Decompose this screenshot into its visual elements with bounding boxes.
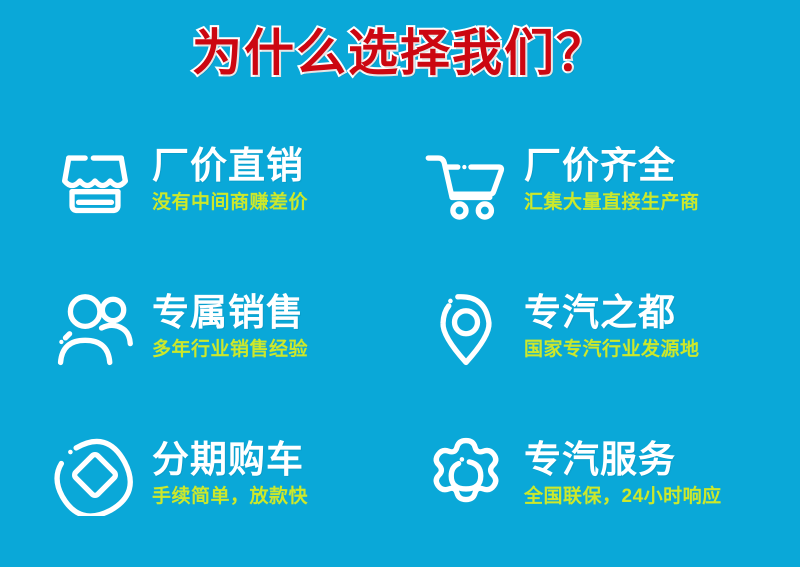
storefront-icon <box>52 138 138 224</box>
feature-subtitle: 手续简单，放款快 <box>152 484 308 510</box>
feature-title: 专属销售 <box>152 291 308 334</box>
feature-text: 专汽服务 全国联保，24小时响应 <box>524 438 722 512</box>
feature-text: 分期购车 手续简单，放款快 <box>152 438 308 512</box>
gear-icon <box>422 432 510 518</box>
map-pin-icon <box>422 285 510 371</box>
feature-subtitle: 多年行业销售经验 <box>152 337 308 363</box>
feature-title: 厂价齐全 <box>524 144 700 187</box>
feature-item-installment-purchase[interactable]: 分期购车 手续简单，放款快 <box>52 401 422 548</box>
feature-subtitle: 全国联保，24小时响应 <box>524 484 722 510</box>
feature-title: 分期购车 <box>152 438 308 481</box>
circle-diamond-icon <box>52 432 138 518</box>
feature-text: 专属销售 多年行业销售经验 <box>152 291 308 365</box>
feature-title: 专汽之都 <box>524 291 700 334</box>
feature-item-special-vehicle-service[interactable]: 专汽服务 全国联保，24小时响应 <box>422 401 764 548</box>
feature-grid: 厂价直销 没有中间商赚差价 厂价齐全 汇集大量直接生产商 <box>52 108 764 548</box>
feature-item-special-vehicle-capital[interactable]: 专汽之都 国家专汽行业发源地 <box>422 255 764 402</box>
feature-subtitle: 没有中间商赚差价 <box>152 190 308 216</box>
feature-title: 厂价直销 <box>152 144 308 187</box>
feature-title: 专汽服务 <box>524 438 722 481</box>
feature-text: 厂价直销 没有中间商赚差价 <box>152 144 308 218</box>
feature-subtitle: 国家专汽行业发源地 <box>524 337 700 363</box>
feature-text: 厂价齐全 汇集大量直接生产商 <box>524 144 700 218</box>
feature-subtitle: 汇集大量直接生产商 <box>524 190 700 216</box>
feature-item-dedicated-sales[interactable]: 专属销售 多年行业销售经验 <box>52 255 422 402</box>
shopping-cart-icon <box>422 138 510 224</box>
feature-item-factory-direct-sales[interactable]: 厂价直销 没有中间商赚差价 <box>52 108 422 255</box>
feature-text: 专汽之都 国家专汽行业发源地 <box>524 291 700 365</box>
two-people-icon <box>52 285 138 371</box>
page-title: 为什么选择我们？ <box>0 24 800 82</box>
feature-item-full-factory-range[interactable]: 厂价齐全 汇集大量直接生产商 <box>422 108 764 255</box>
promo-banner: 为什么选择我们？ 厂价直销 没有中间商赚差价 <box>0 0 800 567</box>
